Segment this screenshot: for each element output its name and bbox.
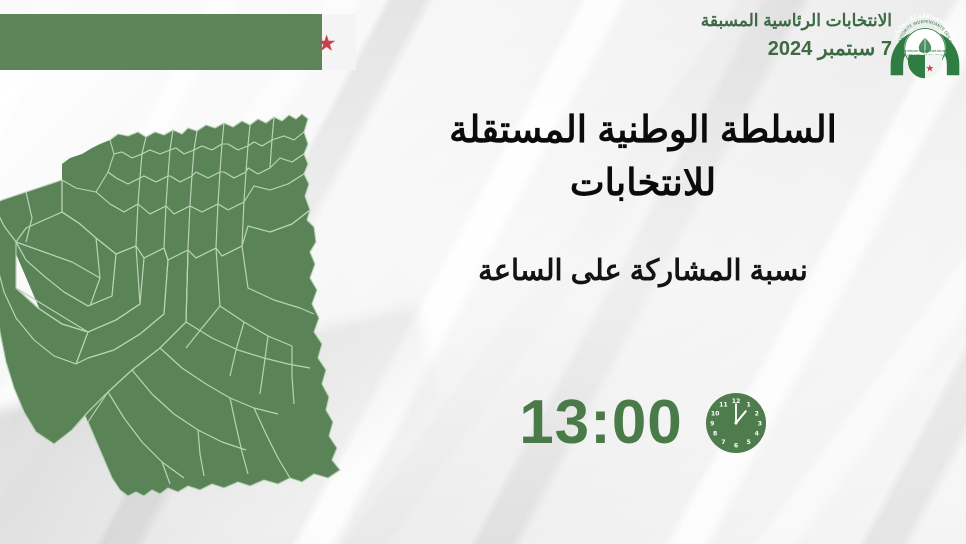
- header-event-line: الانتخابات الرئاسية المسبقة: [701, 10, 892, 33]
- svg-text:3: 3: [757, 420, 761, 427]
- svg-text:4: 4: [754, 431, 759, 438]
- svg-text:5: 5: [746, 439, 750, 446]
- broadcast-slide: الانتخابات الرئاسية المسبقة 7 سبتمبر 202…: [0, 0, 966, 544]
- svg-text:8: 8: [713, 431, 717, 438]
- page-title: السلطة الوطنية المستقلة للانتخابات: [392, 104, 894, 209]
- algeria-flag-band: [0, 14, 356, 70]
- time-value: 13:00: [519, 392, 683, 454]
- svg-text:7: 7: [721, 439, 725, 446]
- svg-text:6: 6: [734, 443, 738, 450]
- svg-text:2: 2: [754, 410, 758, 417]
- analog-clock-icon: 12 1 2 3 4 5 6 7 8 9 10 11: [705, 392, 767, 454]
- svg-text:11: 11: [719, 402, 728, 409]
- algeria-provinces-map-icon: [0, 92, 376, 532]
- logo-flag-patch: [908, 55, 942, 78]
- svg-text:1: 1: [746, 402, 750, 409]
- header-text-block: الانتخابات الرئاسية المسبقة 7 سبتمبر 202…: [701, 10, 892, 63]
- flag-green-half: [0, 14, 322, 70]
- time-row: 13:00 12 1 2 3 4 5 6 7 8 9 10 11: [392, 392, 894, 454]
- page-subtitle: نسبة المشاركة على الساعة: [392, 251, 894, 292]
- crescent-star-icon: [296, 20, 340, 64]
- algeria-map: [0, 92, 376, 532]
- header-date-line: 7 سبتمبر 2024: [701, 36, 892, 63]
- svg-text:10: 10: [711, 410, 720, 417]
- ina-seal-logo-icon: السلطة المستقلة للانتخابات AUTORITE INDE…: [886, 0, 964, 88]
- main-text-block: السلطة الوطنية المستقلة للانتخابات نسبة …: [392, 104, 894, 292]
- svg-text:9: 9: [710, 420, 714, 427]
